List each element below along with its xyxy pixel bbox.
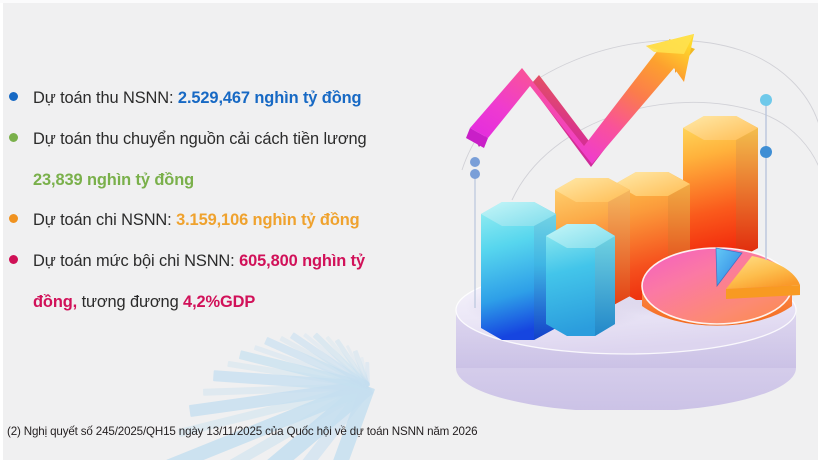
bullet-item: Dự toán thu chuyển nguồn cải cách tiền l… (0, 119, 440, 160)
bullet-text-segment: Dự toán thu NSNN: (33, 89, 178, 107)
bullet-text-segment: 3.159,106 nghìn tỷ đồng (176, 211, 360, 229)
bullet-item: Dự toán chi NSNN: 3.159,106 nghìn tỷ đồn… (0, 200, 440, 241)
bullet-dot-icon (9, 255, 18, 264)
bullet-text-segment: 4,2%GDP (183, 293, 255, 311)
bullet-text-segment: Dự toán chi NSNN: (33, 211, 176, 229)
marker-connector-right (760, 94, 772, 260)
bar-orange-tall (683, 116, 758, 260)
bar-cyan-tall (481, 202, 556, 340)
bullet-dot-icon (9, 133, 18, 142)
bullet-dot-icon (9, 214, 18, 223)
marker-dot-right-upper (760, 94, 772, 106)
bullet-item: Dự toán thu NSNN: 2.529,467 nghìn tỷ đồn… (0, 78, 440, 119)
growth-arrow (466, 34, 695, 167)
canvas-left-edge (0, 0, 3, 460)
marker-dot-right-lower (760, 146, 772, 158)
bullet-text: Dự toán mức bội chi NSNN: 605,800 nghìn … (33, 241, 440, 282)
canvas-top-edge (0, 0, 818, 3)
bullet-text-continuation: 23,839 nghìn tỷ đồng (0, 160, 440, 200)
bar-cyan-short (546, 224, 615, 336)
bullet-text: Dự toán chi NSNN: 3.159,106 nghìn tỷ đồn… (33, 200, 440, 241)
pie-chart (642, 248, 800, 326)
bullet-list: Dự toán thu NSNN: 2.529,467 nghìn tỷ đồn… (0, 78, 440, 322)
bullet-text-segment: 23,839 nghìn tỷ đồng (33, 171, 194, 189)
bullet-text: Dự toán thu NSNN: 2.529,467 nghìn tỷ đồn… (33, 78, 440, 119)
marker-connector-left (470, 157, 480, 308)
bullet-text: Dự toán thu chuyển nguồn cải cách tiền l… (33, 119, 440, 160)
bullet-text-segment: Dự toán thu chuyển nguồn cải cách tiền l… (33, 130, 367, 148)
bullet-text-segment: 605,800 nghìn tỷ (239, 252, 365, 270)
bullet-text-segment: đồng, (33, 293, 77, 311)
marker-dot-left-upper (470, 157, 480, 167)
background-ribbon (365, 362, 370, 386)
bullet-text-segment: 2.529,467 nghìn tỷ đồng (178, 89, 362, 107)
bullet-dot-icon (9, 92, 18, 101)
bullet-text-segment: tương đương (77, 293, 183, 311)
illustration-3d-analytics (440, 10, 818, 410)
footnote: (2) Nghị quyết số 245/2025/QH15 ngày 13/… (7, 425, 477, 438)
bullet-item: Dự toán mức bội chi NSNN: 605,800 nghìn … (0, 241, 440, 282)
marker-dot-left-lower (470, 169, 480, 179)
bullet-text-segment: Dự toán mức bội chi NSNN: (33, 252, 239, 270)
infographic-canvas: Dự toán thu NSNN: 2.529,467 nghìn tỷ đồn… (0, 0, 818, 460)
bullet-text-continuation: đồng, tương đương 4,2%GDP (0, 282, 440, 322)
